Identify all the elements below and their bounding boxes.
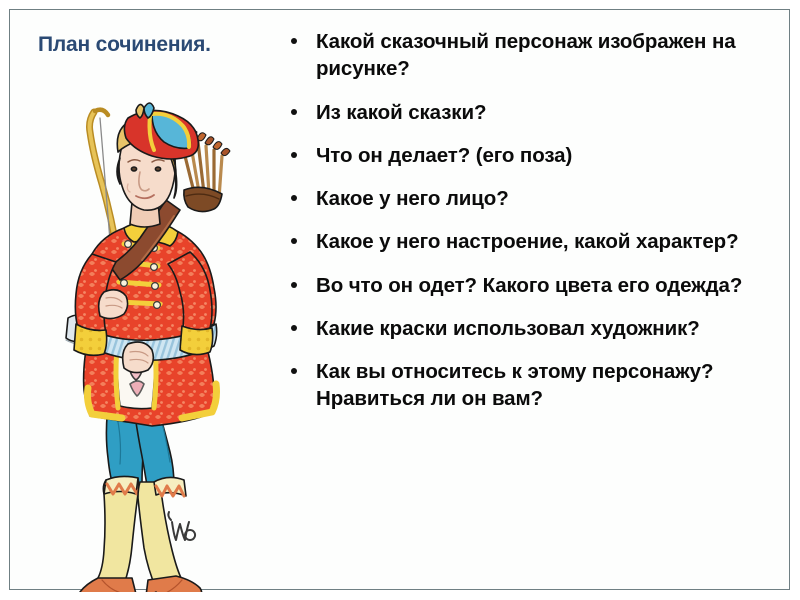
list-item-label: Во что он одет? Какого цвета его одежда? — [316, 272, 794, 299]
slide-content: План сочинения. — [10, 10, 789, 589]
list-item-label: Какой сказочный персонаж изображен на ри… — [316, 28, 794, 83]
bullet-point-icon — [291, 368, 297, 374]
list-item-label: Какое у него лицо? — [316, 185, 794, 212]
list-item-label: Какие краски использовал художник? — [316, 315, 794, 342]
bullet-point-icon — [291, 152, 297, 158]
archer-illustration — [32, 92, 272, 592]
list-item-label: Что он делает? (его поза) — [316, 142, 794, 169]
bullet-point-icon — [291, 38, 297, 44]
list-item: Во что он одет? Какого цвета его одежда? — [282, 272, 794, 299]
bullet-point-icon — [291, 238, 297, 244]
list-item: Из какой сказки? — [282, 99, 794, 126]
bullet-point-icon — [291, 325, 297, 331]
page-title: План сочинения. — [38, 33, 288, 56]
bullet-point-icon — [291, 195, 297, 201]
list-item: Какое у него лицо? — [282, 185, 794, 212]
list-item-label: Из какой сказки? — [316, 99, 794, 126]
list-item: Какое у него настроение, какой характер? — [282, 228, 794, 255]
bullet-point-icon — [291, 282, 297, 288]
list-item: Что он делает? (его поза) — [282, 142, 794, 169]
list-item: Какие краски использовал художник? — [282, 315, 794, 342]
archer-illustration-svg — [32, 92, 272, 592]
list-item: Как вы относитесь к этому персонажу? Нра… — [282, 358, 794, 413]
list-item: Какой сказочный персонаж изображен на ри… — [282, 28, 794, 83]
slide-border: План сочинения. — [9, 9, 790, 590]
question-list: Какой сказочный персонаж изображен на ри… — [282, 28, 794, 413]
list-item-label: Как вы относитесь к этому персонажу? Нра… — [316, 358, 794, 413]
bullet-point-icon — [291, 109, 297, 115]
artist-signature — [168, 512, 195, 540]
list-item-label: Какое у него настроение, какой характер? — [316, 228, 794, 255]
slide-frame: План сочинения. — [0, 0, 800, 600]
